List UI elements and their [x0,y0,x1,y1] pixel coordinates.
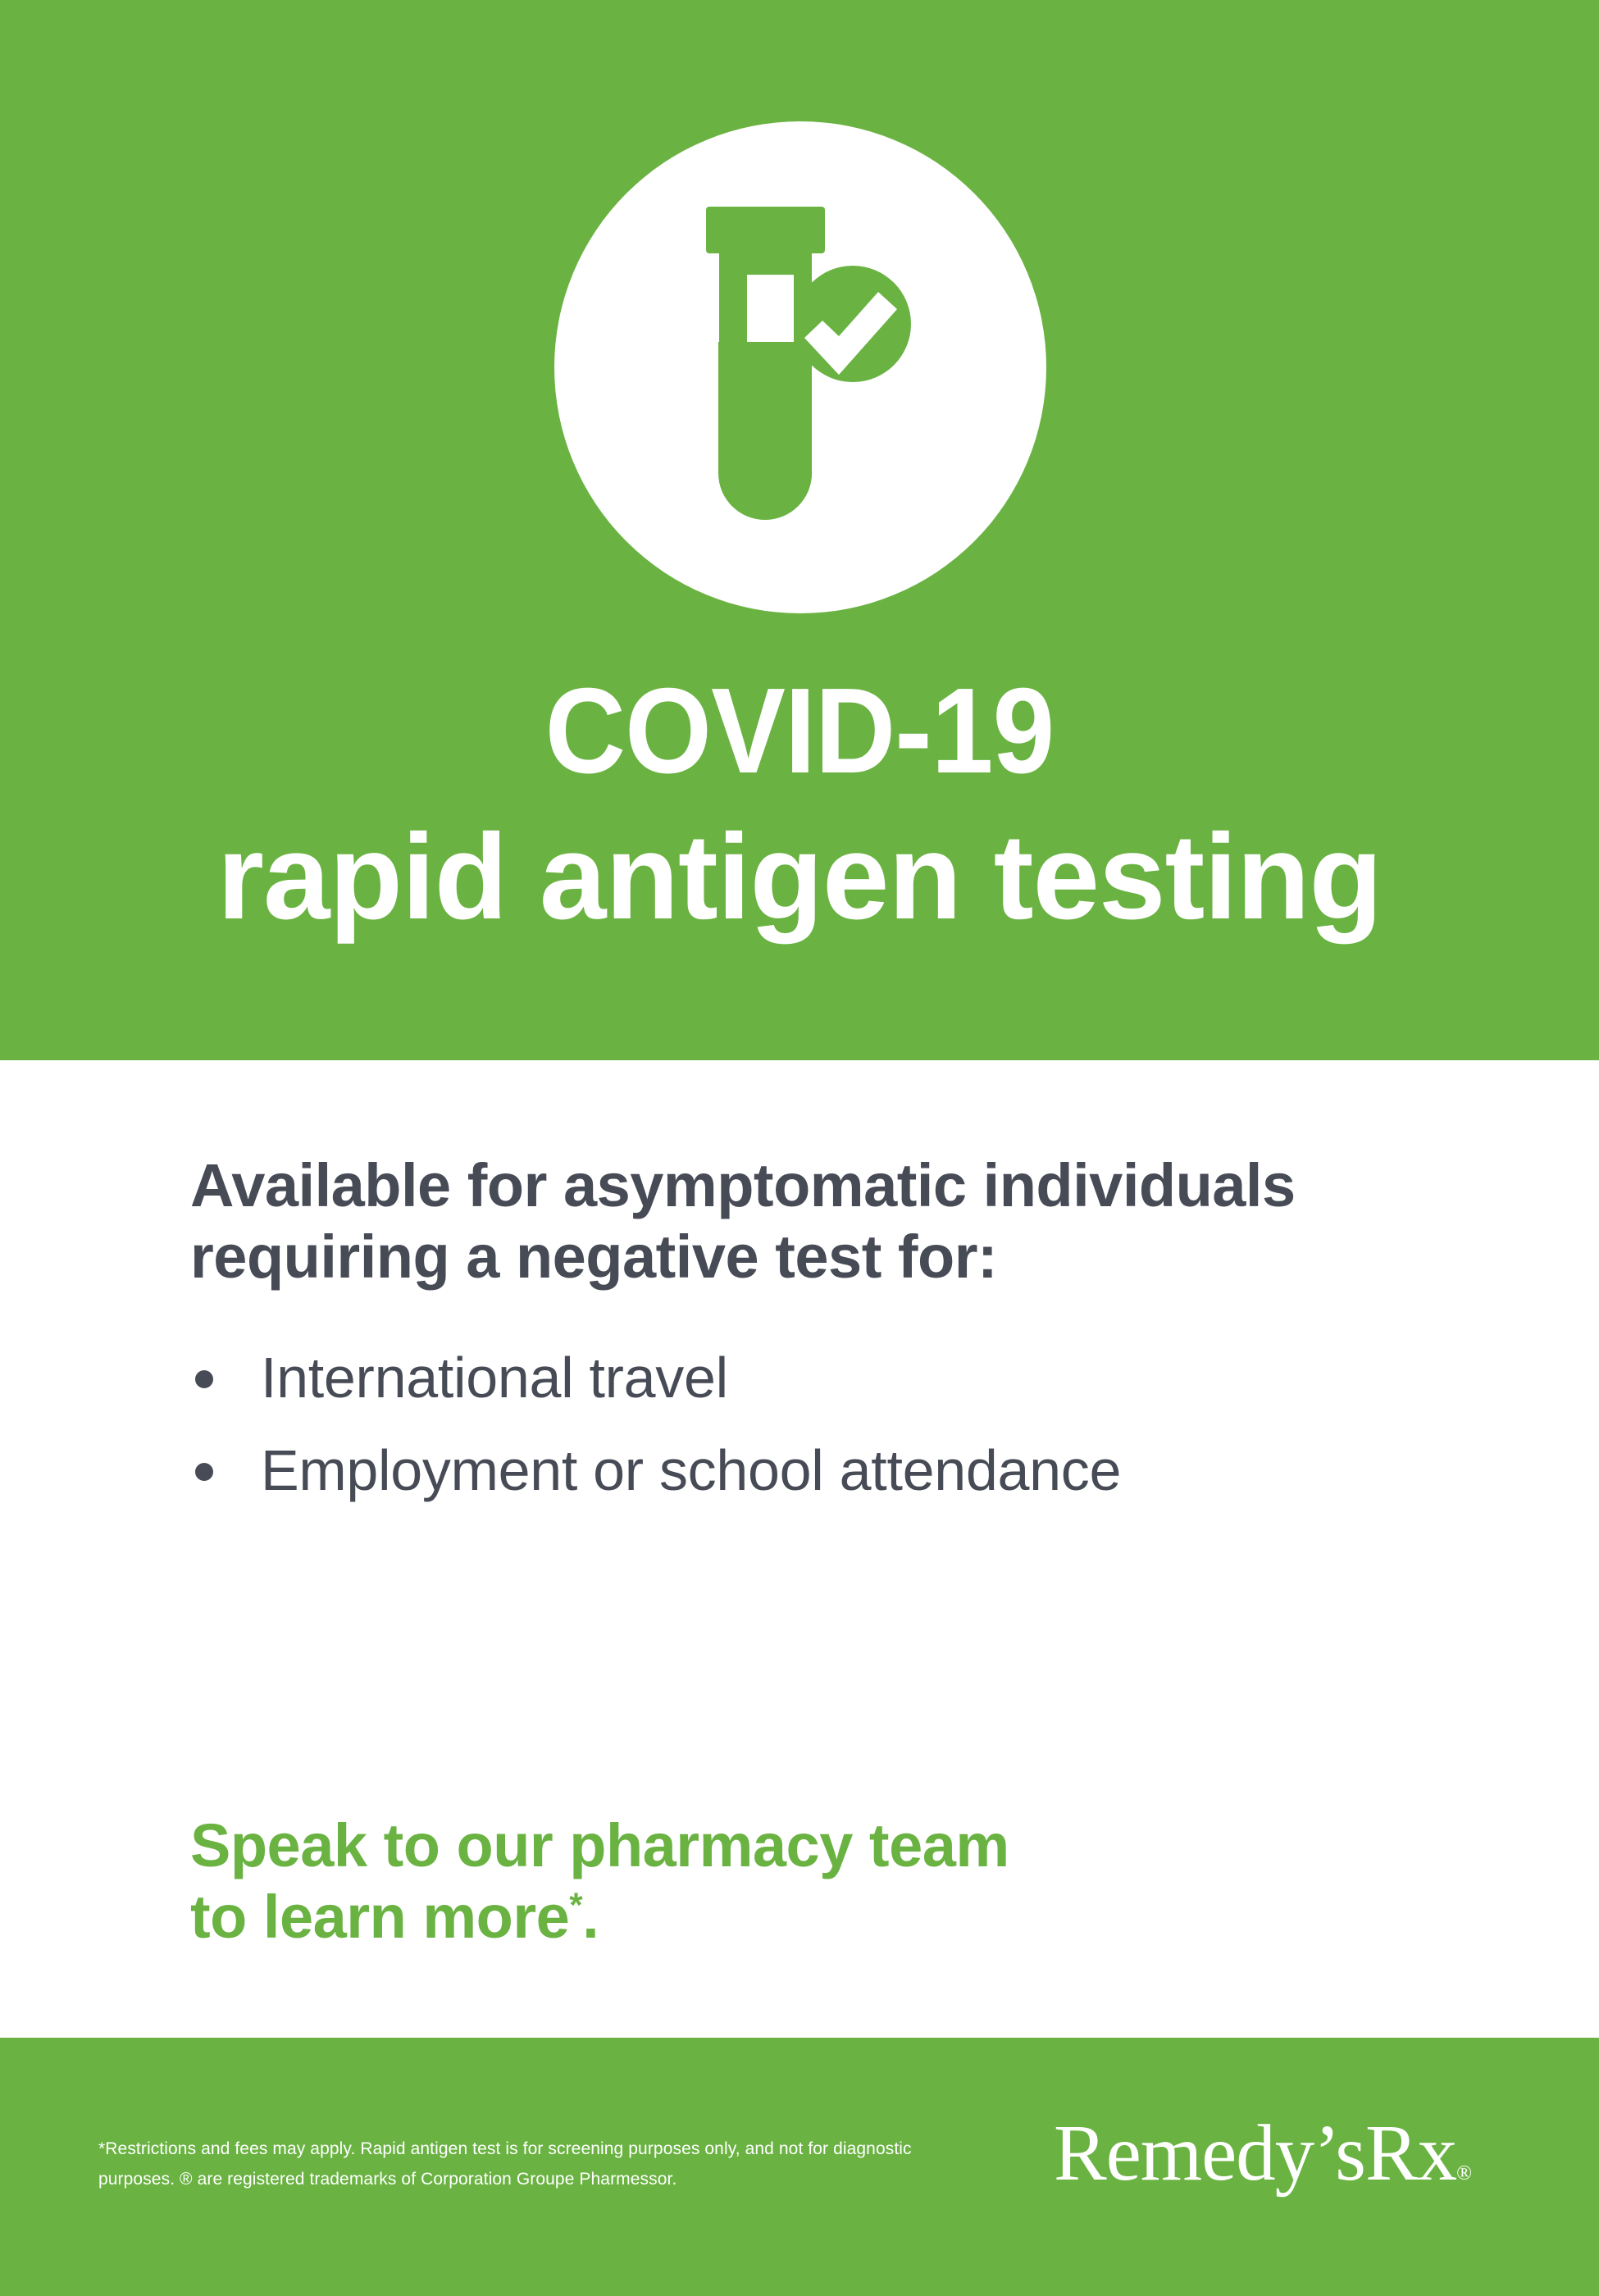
lede-line-1: Available for asymptomatic individuals [190,1150,1469,1221]
list-item-label: International travel [261,1346,728,1410]
eligibility-list: International travel Employment or schoo… [190,1349,1519,1534]
title-line-rapid-antigen-testing: rapid antigen testing [8,817,1592,938]
logo-wordmark: Remedy’sRx [1054,2109,1456,2197]
bullet-dot-icon [195,1370,213,1388]
test-tube-check-icon [554,121,1046,613]
cta-line-2-text: to learn more [190,1883,569,1951]
lede-heading: Available for asymptomatic individuals r… [190,1150,1469,1293]
hero-band: COVID-19 rapid antigen testing [0,0,1599,1060]
list-item: International travel [190,1349,1519,1406]
body-section: Available for asymptomatic individuals r… [0,1060,1599,2038]
cta-asterisk-mark: * [569,1885,582,1924]
lede-line-2: requiring a negative test for: [190,1221,1469,1292]
footer-band: *Restrictions and fees may apply. Rapid … [0,2038,1599,2296]
cta-period: . [582,1883,599,1951]
list-item-label: Employment or school attendance [261,1438,1121,1502]
disclaimer-text: *Restrictions and fees may apply. Rapid … [98,2134,959,2195]
bullet-dot-icon [195,1463,213,1481]
poster-canvas: COVID-19 rapid antigen testing Available… [0,0,1599,2296]
call-to-action: Speak to our pharmacy team to learn more… [190,1811,1338,1952]
registered-trademark-icon: ® [1456,2162,1472,2184]
list-item: Employment or school attendance [190,1442,1519,1499]
page-title: COVID-19 rapid antigen testing [0,671,1599,938]
title-line-covid19: COVID-19 [64,671,1535,792]
remedysrx-logo: Remedy’sRx® [1054,2107,1513,2198]
cta-line-2: to learn more*. [190,1882,1338,1953]
cta-line-1: Speak to our pharmacy team [190,1811,1338,1882]
